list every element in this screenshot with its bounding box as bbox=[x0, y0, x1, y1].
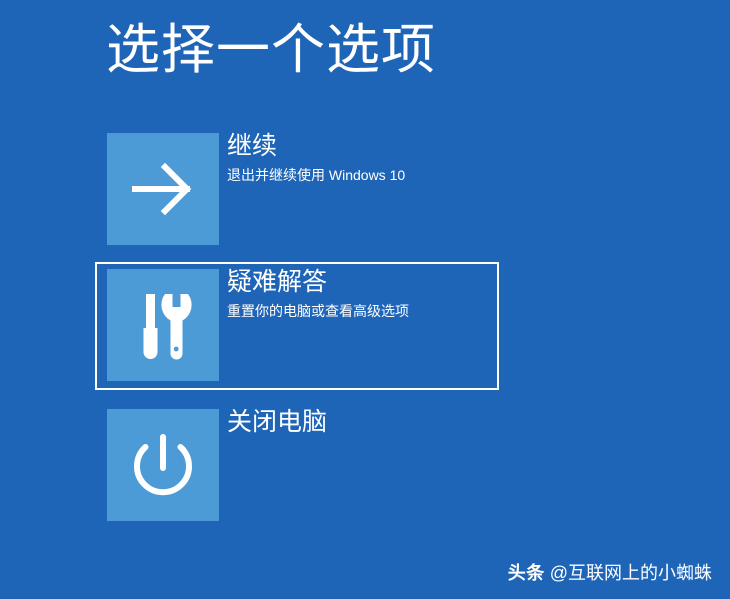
option-troubleshoot-text: 疑难解答 重置你的电脑或查看高级选项 bbox=[227, 266, 492, 321]
option-troubleshoot-subtitle: 重置你的电脑或查看高级选项 bbox=[227, 301, 492, 321]
option-turn-off-pc-text: 关闭电脑 bbox=[227, 406, 492, 439]
option-continue[interactable]: 继续 退出并继续使用 Windows 10 bbox=[95, 126, 499, 254]
option-troubleshoot-title: 疑难解答 bbox=[227, 266, 492, 299]
wrench-screwdriver-icon bbox=[107, 269, 219, 381]
watermark-brand: 头条 bbox=[508, 563, 545, 583]
option-continue-tile[interactable] bbox=[107, 133, 219, 245]
option-troubleshoot-tile[interactable] bbox=[107, 269, 219, 381]
watermark-handle: @互联网上的小蜘蛛 bbox=[550, 563, 712, 583]
watermark: 头条@互联网上的小蜘蛛 bbox=[508, 561, 712, 585]
power-icon bbox=[107, 409, 219, 521]
option-continue-title: 继续 bbox=[227, 130, 492, 163]
option-troubleshoot[interactable]: 疑难解答 重置你的电脑或查看高级选项 bbox=[95, 262, 499, 390]
option-turn-off-pc-title: 关闭电脑 bbox=[227, 406, 492, 439]
option-continue-subtitle: 退出并继续使用 Windows 10 bbox=[227, 165, 492, 185]
option-turn-off-pc-tile[interactable] bbox=[107, 409, 219, 521]
option-turn-off-pc[interactable]: 关闭电脑 bbox=[95, 402, 499, 530]
page-title: 选择一个选项 bbox=[106, 14, 436, 86]
arrow-right-icon bbox=[107, 133, 219, 245]
recovery-options-screen: 选择一个选项 继续 退出并继续使用 Windows 10 bbox=[0, 0, 730, 599]
option-continue-text: 继续 退出并继续使用 Windows 10 bbox=[227, 130, 492, 185]
